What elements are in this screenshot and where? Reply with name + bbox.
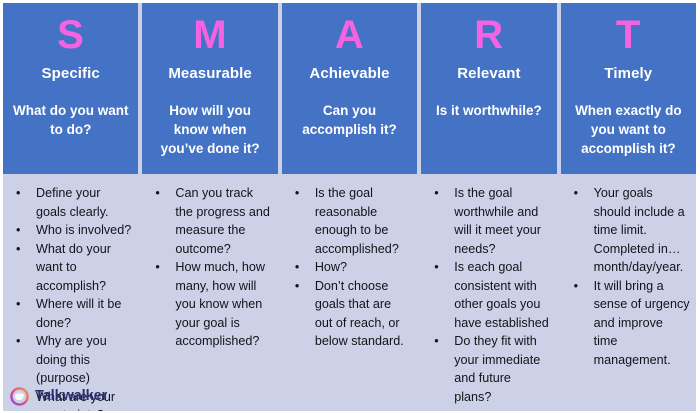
list-item-text: Is the goal worthwhile and will it meet …	[454, 186, 541, 256]
smart-term-label: Specific	[42, 65, 100, 82]
smart-letter: M	[193, 13, 227, 58]
list-item: •Can you track the progress and measure …	[146, 184, 271, 258]
list-item: •Do they fit with your immediate and fut…	[425, 332, 550, 406]
list-item: •Who is involved?	[7, 221, 132, 240]
talkwalker-logo: Talkwalker	[10, 387, 107, 406]
bullet-icon: •	[155, 258, 159, 277]
list-item-text: Why are you doing this (purpose)	[36, 334, 107, 385]
bullet-icon: •	[16, 184, 20, 203]
list-item: •Is each goal consistent with other goal…	[425, 258, 550, 332]
bullet-icon: •	[155, 184, 159, 203]
bullet-list: •Can you track the progress and measure …	[146, 184, 271, 351]
smart-column-measurable: MMeasurableHow will you know when you’ve…	[142, 3, 277, 411]
bullet-list: •Is the goal worthwhile and will it meet…	[425, 184, 550, 406]
list-item: •Don’t choose goals that are out of reac…	[286, 277, 411, 351]
column-header: TTimelyWhen exactly do you want to accom…	[561, 3, 696, 174]
talkwalker-wordmark: Talkwalker	[35, 389, 107, 404]
column-header: RRelevantIs it worthwhile?	[421, 3, 556, 174]
smart-term-label: Achievable	[309, 65, 389, 82]
smart-column-timely: TTimelyWhen exactly do you want to accom…	[561, 3, 696, 411]
smart-column-relevant: RRelevantIs it worthwhile?•Is the goal w…	[421, 3, 556, 411]
bullet-icon: •	[16, 295, 20, 314]
smart-question-text: Is it worthwhile?	[434, 101, 544, 120]
smart-question-text: How will you know when you’ve done it?	[149, 101, 270, 158]
bullet-icon: •	[16, 221, 20, 240]
bullet-icon: •	[434, 332, 438, 351]
column-header: SSpecificWhat do you want to do?	[3, 3, 138, 174]
smart-goals-infographic: SSpecificWhat do you want to do?•Define …	[0, 0, 700, 413]
bullet-icon: •	[434, 184, 438, 203]
list-item-text: Is each goal consistent with other goals…	[454, 260, 549, 330]
list-item: •Your goals should include a time limit.…	[565, 184, 690, 277]
column-header: AAchievableCan you accomplish it?	[282, 3, 417, 174]
list-item: •How?	[286, 258, 411, 277]
list-item: •Is the goal worthwhile and will it meet…	[425, 184, 550, 258]
smart-question-text: What do you want to do?	[10, 101, 131, 139]
smart-columns-grid: SSpecificWhat do you want to do?•Define …	[3, 3, 696, 411]
bullet-icon: •	[16, 332, 20, 351]
list-item-text: Where will it be done?	[36, 297, 121, 330]
bullet-icon: •	[574, 184, 578, 203]
list-item: •Define your goals clearly.	[7, 184, 132, 221]
bullet-icon: •	[295, 258, 299, 277]
column-body: •Is the goal reasonable enough to be acc…	[282, 174, 417, 411]
list-item-text: What do your want to accomplish?	[36, 242, 111, 293]
list-item-text: Is the goal reasonable enough to be acco…	[315, 186, 399, 256]
list-item-text: How much, how many, how will you know wh…	[175, 260, 265, 348]
list-item-text: How?	[315, 260, 347, 274]
list-item-text: Who is involved?	[36, 223, 131, 237]
bullet-icon: •	[574, 277, 578, 296]
bullet-icon: •	[16, 240, 20, 259]
column-header: MMeasurableHow will you know when you’ve…	[142, 3, 277, 174]
list-item: •Why are you doing this (purpose)	[7, 332, 132, 388]
column-body: •Define your goals clearly.•Who is invol…	[3, 174, 138, 411]
list-item: •What do your want to accomplish?	[7, 240, 132, 296]
smart-letter: A	[335, 13, 364, 58]
bullet-icon: •	[295, 277, 299, 296]
smart-question-text: When exactly do you want to accomplish i…	[568, 101, 689, 158]
smart-column-achievable: AAchievableCan you accomplish it?•Is the…	[282, 3, 417, 411]
smart-term-label: Measurable	[168, 65, 252, 82]
list-item: •Where will it be done?	[7, 295, 132, 332]
list-item-text: Do they fit with your immediate and futu…	[454, 334, 540, 404]
bullet-icon: •	[295, 184, 299, 203]
bullet-list: •Define your goals clearly.•Who is invol…	[7, 184, 132, 411]
smart-letter: S	[57, 13, 84, 58]
list-item-text: Define your goals clearly.	[36, 186, 109, 219]
smart-term-label: Timely	[604, 65, 652, 82]
column-body: •Is the goal worthwhile and will it meet…	[421, 174, 556, 411]
bullet-icon: •	[434, 258, 438, 277]
bullet-list: •Your goals should include a time limit.…	[565, 184, 690, 369]
smart-term-label: Relevant	[457, 65, 520, 82]
list-item-text: Your goals should include a time limit. …	[594, 186, 685, 274]
talkwalker-speech-bubble-icon	[10, 387, 29, 406]
smart-column-specific: SSpecificWhat do you want to do?•Define …	[3, 3, 138, 411]
bullet-list: •Is the goal reasonable enough to be acc…	[286, 184, 411, 351]
list-item: •How much, how many, how will you know w…	[146, 258, 271, 351]
smart-letter: R	[474, 13, 503, 58]
smart-question-text: Can you accomplish it?	[289, 101, 410, 139]
list-item: •It will bring a sense of urgency and im…	[565, 277, 690, 370]
column-body: •Can you track the progress and measure …	[142, 174, 277, 411]
column-body: •Your goals should include a time limit.…	[561, 174, 696, 411]
list-item-text: It will bring a sense of urgency and imp…	[594, 279, 690, 367]
list-item: •Is the goal reasonable enough to be acc…	[286, 184, 411, 258]
list-item-text: Don’t choose goals that are out of reach…	[315, 279, 404, 349]
smart-letter: T	[616, 13, 641, 58]
list-item-text: Can you track the progress and measure t…	[175, 186, 270, 256]
